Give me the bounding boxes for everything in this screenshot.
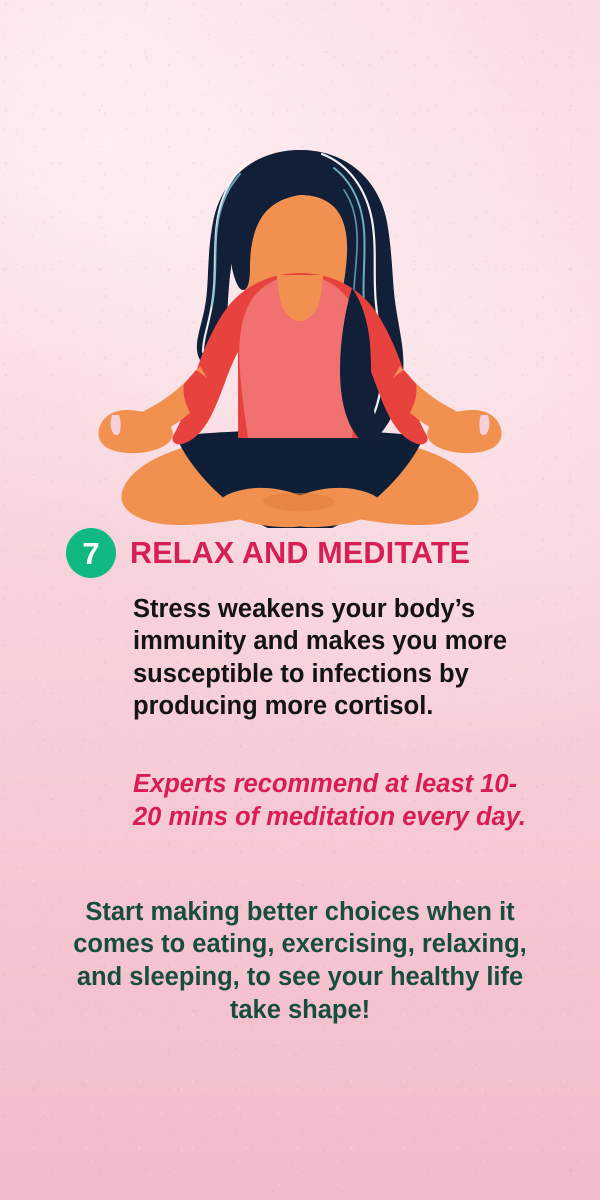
meditating-woman-illustration	[0, 138, 600, 528]
emphasis-paragraph: Experts recommend at least 10-20 mins of…	[0, 768, 600, 834]
page-title: RELAX AND MEDITATE	[130, 538, 470, 569]
infographic-poster: 7 RELAX AND MEDITATE Stress weakens your…	[0, 0, 600, 1200]
heading-row: 7 RELAX AND MEDITATE	[0, 528, 600, 578]
body-paragraph: Stress weakens your body’s immunity and …	[0, 593, 600, 722]
step-number-badge: 7	[66, 528, 116, 578]
closing-paragraph: Start making better choices when it come…	[0, 896, 600, 1028]
content-block: 7 RELAX AND MEDITATE Stress weakens your…	[0, 528, 600, 1027]
